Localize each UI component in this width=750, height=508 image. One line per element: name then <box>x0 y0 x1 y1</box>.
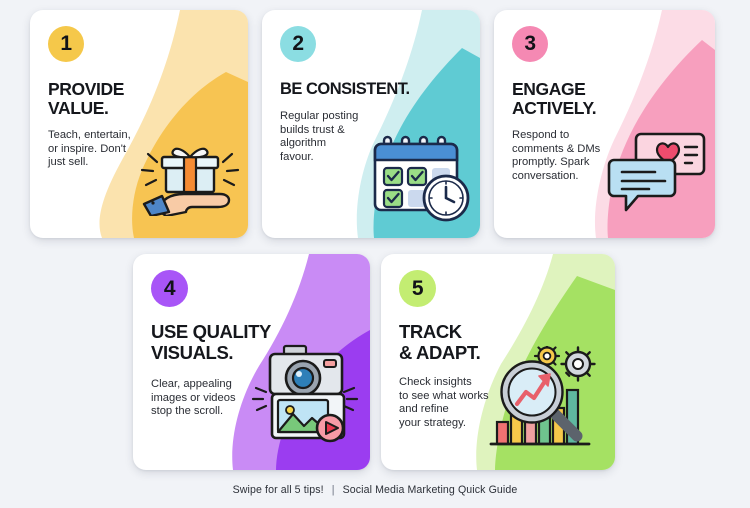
chat-bubbles-heart-icon <box>605 130 709 212</box>
footer-right-text: Social Media Marketing Quick Guide <box>343 484 518 496</box>
gift-in-hand-icon <box>136 124 244 216</box>
tip-card-1[interactable]: 1 PROVIDE VALUE. Teach, entertain, or in… <box>30 10 248 238</box>
tip-headline-3: ENGAGE ACTIVELY. <box>512 80 697 118</box>
magnifier-bar-chart-gears-icon <box>485 346 609 454</box>
tip-number-badge-2: 2 <box>280 26 316 62</box>
tip-card-2[interactable]: 2 BE CONSISTENT. Regular posting builds … <box>262 10 480 238</box>
tip-card-5[interactable]: 5 TRACK & ADAPT. Check insights to see w… <box>381 254 615 470</box>
infographic-board: 1 PROVIDE VALUE. Teach, entertain, or in… <box>0 0 750 508</box>
footer-left-text: Swipe for all 5 tips! <box>233 484 324 496</box>
tip-card-3[interactable]: 3 ENGAGE ACTIVELY. Respond to comments &… <box>494 10 715 238</box>
tip-number-badge-4: 4 <box>151 270 188 307</box>
footer-separator: | <box>327 484 340 496</box>
tip-card-4[interactable]: 4 USE QUALITY VISUALS. Clear, appealing … <box>133 254 370 470</box>
tip-headline-1: PROVIDE VALUE. <box>48 80 230 118</box>
tip-number-badge-5: 5 <box>399 270 436 307</box>
tip-headline-2: BE CONSISTENT. <box>280 80 462 99</box>
calendar-clock-icon <box>370 132 474 224</box>
tip-number-badge-3: 3 <box>512 26 548 62</box>
camera-photo-video-icon <box>250 342 360 446</box>
footer-caption: Swipe for all 5 tips! | Social Media Mar… <box>0 484 750 496</box>
tip-number-badge-1: 1 <box>48 26 84 62</box>
